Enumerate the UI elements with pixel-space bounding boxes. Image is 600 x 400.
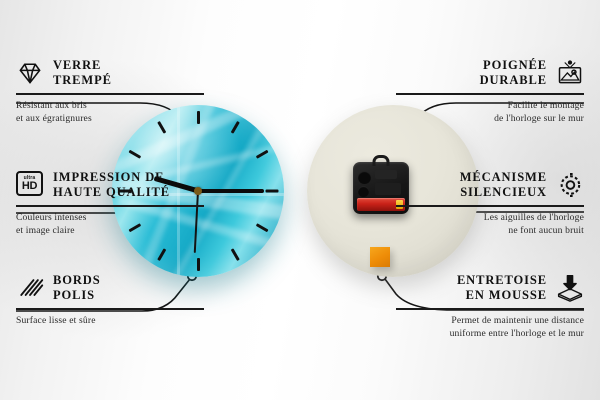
feature-impression-haute-qualite: ultra HD IMPRESSION DEHAUTE QUALITÉ Coul… — [16, 170, 204, 237]
feature-description: Couleurs intenseset image claire — [16, 211, 204, 237]
feature-title: ENTRETOISEEN MOUSSE — [457, 273, 547, 304]
mechanism-dial-large — [358, 171, 371, 184]
ultra-hd-icon: ultra HD — [16, 171, 44, 199]
feature-divider — [396, 205, 584, 207]
feature-mecanisme-silencieux: MÉCANISMESILENCIEUX Les aiguilles de l'h… — [396, 170, 584, 237]
feature-description: Permet de maintenir une distanceuniforme… — [396, 314, 584, 340]
feature-entretoise-en-mousse: ENTRETOISEEN MOUSSE Permet de maintenir … — [396, 273, 584, 340]
feature-divider — [16, 93, 204, 95]
foam-spacer-pad — [370, 247, 390, 267]
picture-frame-hanger-icon — [556, 59, 584, 87]
feature-bords-polis: BORDSPOLIS Surface lisse et sûre — [16, 273, 204, 327]
feature-description: Facilite le montagede l'horloge sur le m… — [396, 99, 584, 125]
feature-title: MÉCANISMESILENCIEUX — [460, 170, 547, 201]
feature-divider — [16, 205, 204, 207]
feature-poignee-durable: POIGNÉEDURABLE Facilite le montagede l'h… — [396, 58, 584, 125]
feature-divider — [396, 93, 584, 95]
hanger-tab — [373, 155, 390, 166]
gear-icon — [556, 171, 584, 199]
feature-verre-trempe: VERRETREMPÉ Résistant aux briset aux égr… — [16, 58, 204, 125]
feature-description: Les aiguilles de l'horlogene font aucun … — [396, 211, 584, 237]
minute-hand — [198, 189, 264, 193]
polished-edges-icon — [16, 274, 44, 302]
feature-description: Surface lisse et sûre — [16, 314, 204, 327]
feature-description: Résistant aux briset aux égratignures — [16, 99, 204, 125]
feature-divider — [396, 308, 584, 310]
mechanism-slot-top — [375, 170, 397, 179]
infographic-stage: VERRETREMPÉ Résistant aux briset aux égr… — [0, 0, 600, 400]
diamond-icon — [16, 59, 44, 87]
feature-title: POIGNÉEDURABLE — [480, 58, 547, 89]
feature-divider — [16, 308, 204, 310]
mechanism-dial-small — [358, 186, 369, 197]
feature-title: IMPRESSION DEHAUTE QUALITÉ — [53, 170, 170, 201]
feature-title: BORDSPOLIS — [53, 273, 101, 304]
feature-title: VERRETREMPÉ — [53, 58, 112, 89]
foam-spacer-arrow-icon — [556, 274, 584, 302]
